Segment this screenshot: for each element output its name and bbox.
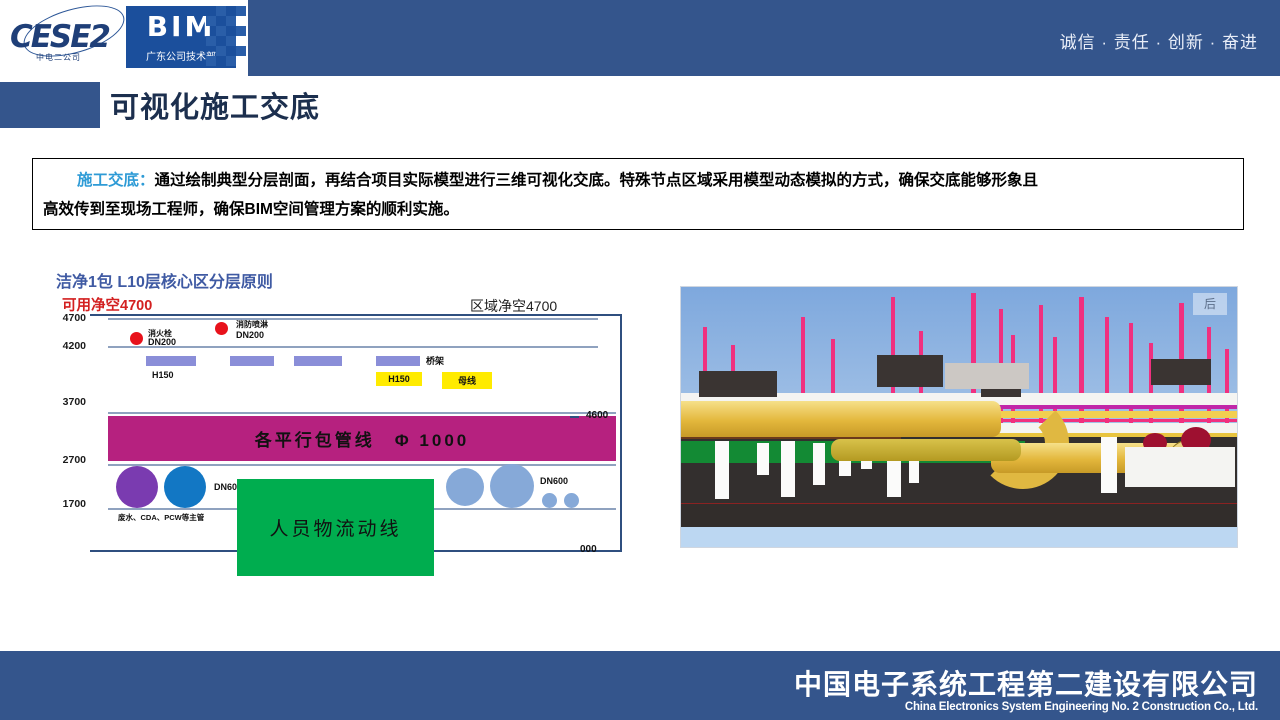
footer-company-cn: 中国电子系统工程第二建设有限公司 xyxy=(794,663,1258,703)
render-duct-branch xyxy=(831,439,1021,461)
description-line-1: 施工交底：通过绘制典型分层剖面，再结合项目实际模型进行三维可视化交底。特殊节点区… xyxy=(43,166,1233,195)
diagram-area-clearance-label: 区域净空4700 xyxy=(470,296,557,316)
render-panel xyxy=(945,363,1029,389)
cable-tray-3 xyxy=(294,356,342,366)
footer-bar: 中国电子系统工程第二建设有限公司 China Electronics Syste… xyxy=(0,651,1280,720)
parallel-pipes-label: 各平行包管线 Φ 1000 xyxy=(255,426,470,451)
badge-h150: H150 xyxy=(376,372,422,386)
render-equipment-box xyxy=(699,371,777,397)
render-main-duct xyxy=(680,401,1001,437)
right-mark-4600: 4600 xyxy=(586,410,608,421)
right-tick-000 xyxy=(570,550,579,552)
cable-tray-1 xyxy=(146,356,196,366)
axis-tick-4700: 4700 xyxy=(63,312,86,324)
title-accent-block xyxy=(0,82,100,128)
axis-tick-3700: 3700 xyxy=(63,396,86,408)
pipe-lightblue-1 xyxy=(446,468,484,506)
pipe-label-right: DN600 xyxy=(540,476,568,486)
pipe-lightblue-3 xyxy=(542,493,557,508)
render-panel xyxy=(1125,447,1235,487)
cese-logo: CESE2 中电二公司 xyxy=(6,5,130,71)
pipe-lightblue-4 xyxy=(564,493,579,508)
hydrant-spec: DN200 xyxy=(148,337,176,347)
pipe-purple xyxy=(116,466,158,508)
cable-tray-2 xyxy=(230,356,274,366)
right-mark-000: 000 xyxy=(580,544,597,555)
hydrant-icon xyxy=(130,332,143,345)
render-footer-strip xyxy=(681,527,1238,548)
diagram-title: 洁净1包 L10层核心区分层原则 xyxy=(56,268,273,292)
header-slogan: 诚信 · 责任 · 创新 · 奋进 xyxy=(1060,28,1258,53)
render-equipment-box xyxy=(1151,359,1211,385)
level-line-4700 xyxy=(108,318,598,320)
render-floor-band xyxy=(681,503,1238,529)
cable-tray-4 xyxy=(376,356,420,366)
sprinkler-spec: DN200 xyxy=(236,330,264,340)
diagram-axis: 4700 4200 3700 2700 1700 xyxy=(40,312,86,512)
description-box: 施工交底：通过绘制典型分层剖面，再结合项目实际模型进行三维可视化交底。特殊节点区… xyxy=(32,158,1244,230)
cable-tray-label: 桥架 xyxy=(426,354,444,367)
main-pipe-note: 废水、CDA、PCW等主管 xyxy=(118,512,204,523)
render-equipment-box xyxy=(877,355,943,387)
level-line-3700 xyxy=(108,412,616,414)
top-header-bar: CESE2 中电二公司 BIM 广东公司技术部 诚信 · 责任 · 创新 · 奋… xyxy=(0,0,1280,76)
checker-pattern-icon xyxy=(206,6,246,68)
render-watermark: 后 xyxy=(1193,293,1227,315)
layer-section-diagram: 洁净1包 L10层核心区分层原则 可用净空4700 区域净空4700 4700 … xyxy=(40,268,650,558)
description-line-2: 高效传到至现场工程师，确保BIM空间管理方案的顺利实施。 xyxy=(43,195,1233,224)
parallel-pipes-band: 各平行包管线 Φ 1000 xyxy=(108,416,616,461)
render-column xyxy=(813,443,825,485)
footer-company-en: China Electronics System Engineering No.… xyxy=(905,701,1258,713)
pipe-lightblue-2 xyxy=(490,464,534,508)
level-line-4200 xyxy=(108,346,598,348)
logo-plate: CESE2 中电二公司 BIM 广东公司技术部 xyxy=(0,0,248,76)
right-tick-4600 xyxy=(570,416,579,418)
render-column xyxy=(757,443,769,475)
tray-h150-label: H150 xyxy=(152,370,174,380)
render-column xyxy=(715,441,729,499)
pipe-blue xyxy=(164,466,206,508)
sprinkler-icon xyxy=(215,322,228,335)
axis-tick-2700: 2700 xyxy=(63,454,86,466)
axis-tick-4200: 4200 xyxy=(63,340,86,352)
personnel-logistics-label: 人员物流动线 xyxy=(269,514,401,541)
render-column xyxy=(781,441,795,497)
axis-tick-1700: 1700 xyxy=(63,498,86,510)
description-keyword: 施工交底： xyxy=(77,172,155,189)
description-text-1: 通过绘制典型分层剖面，再结合项目实际模型进行三维可视化交底。特殊节点区域采用模型… xyxy=(155,172,1039,189)
page-title: 可视化施工交底 xyxy=(110,84,320,126)
personnel-logistics-block: 人员物流动线 xyxy=(237,479,434,576)
title-row: 可视化施工交底 xyxy=(0,76,1280,134)
cese-logo-text: CESE2 xyxy=(10,19,109,55)
cese-logo-subtext: 中电二公司 xyxy=(36,52,81,63)
render-column xyxy=(1101,437,1117,493)
bim-3d-render: 后 xyxy=(680,286,1238,548)
sprinkler-name: 消防喷淋 xyxy=(236,319,268,330)
badge-busbar: 母线 xyxy=(442,372,492,389)
diagram-frame: 消火栓 DN200 消防喷淋 DN200 桥架 H150 H150 母线 各平行… xyxy=(90,314,622,552)
